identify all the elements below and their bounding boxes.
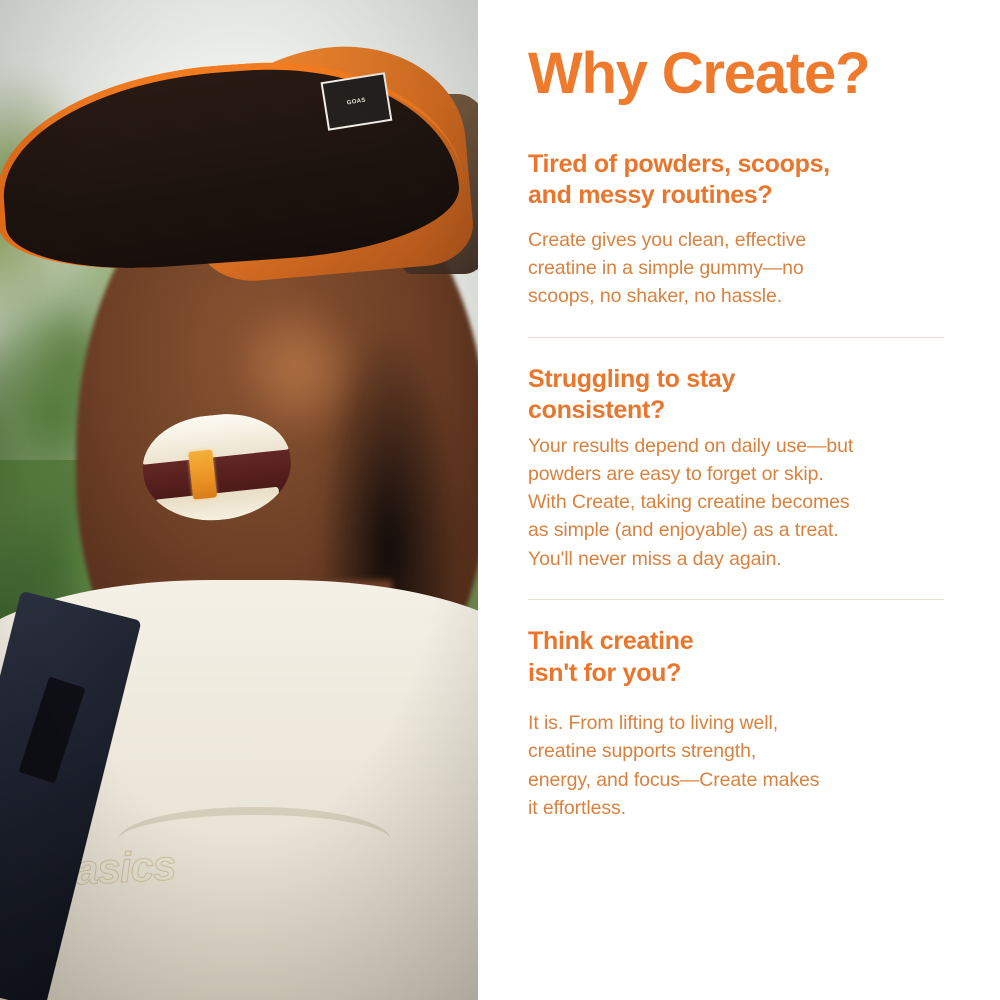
section-consistency: Struggling to stay consistent? Your resu… [528, 364, 944, 573]
section-body: Create gives you clean, effective creati… [528, 226, 944, 311]
section-heading: Think creatine isn't for you? [528, 626, 944, 689]
why-create-panel: GOAS asics Why Create? Tired of powders,… [0, 0, 1000, 1000]
lifestyle-photo: GOAS asics [0, 0, 478, 1000]
section-creatine-for-you: Think creatine isn't for you? It is. Fro… [528, 626, 944, 822]
section-divider-2 [528, 599, 944, 600]
section-body: It is. From lifting to living well, crea… [528, 709, 944, 822]
section-heading: Tired of powders, scoops, and messy rout… [528, 149, 944, 212]
section-divider-1 [528, 337, 944, 338]
section-powders: Tired of powders, scoops, and messy rout… [528, 149, 944, 311]
content-column: Why Create? Tired of powders, scoops, an… [478, 0, 1000, 1000]
photo-vignette [0, 0, 478, 1000]
page-title: Why Create? [528, 44, 944, 105]
section-body: Your results depend on daily use—but pow… [528, 432, 944, 573]
section-heading: Struggling to stay consistent? [528, 364, 944, 427]
